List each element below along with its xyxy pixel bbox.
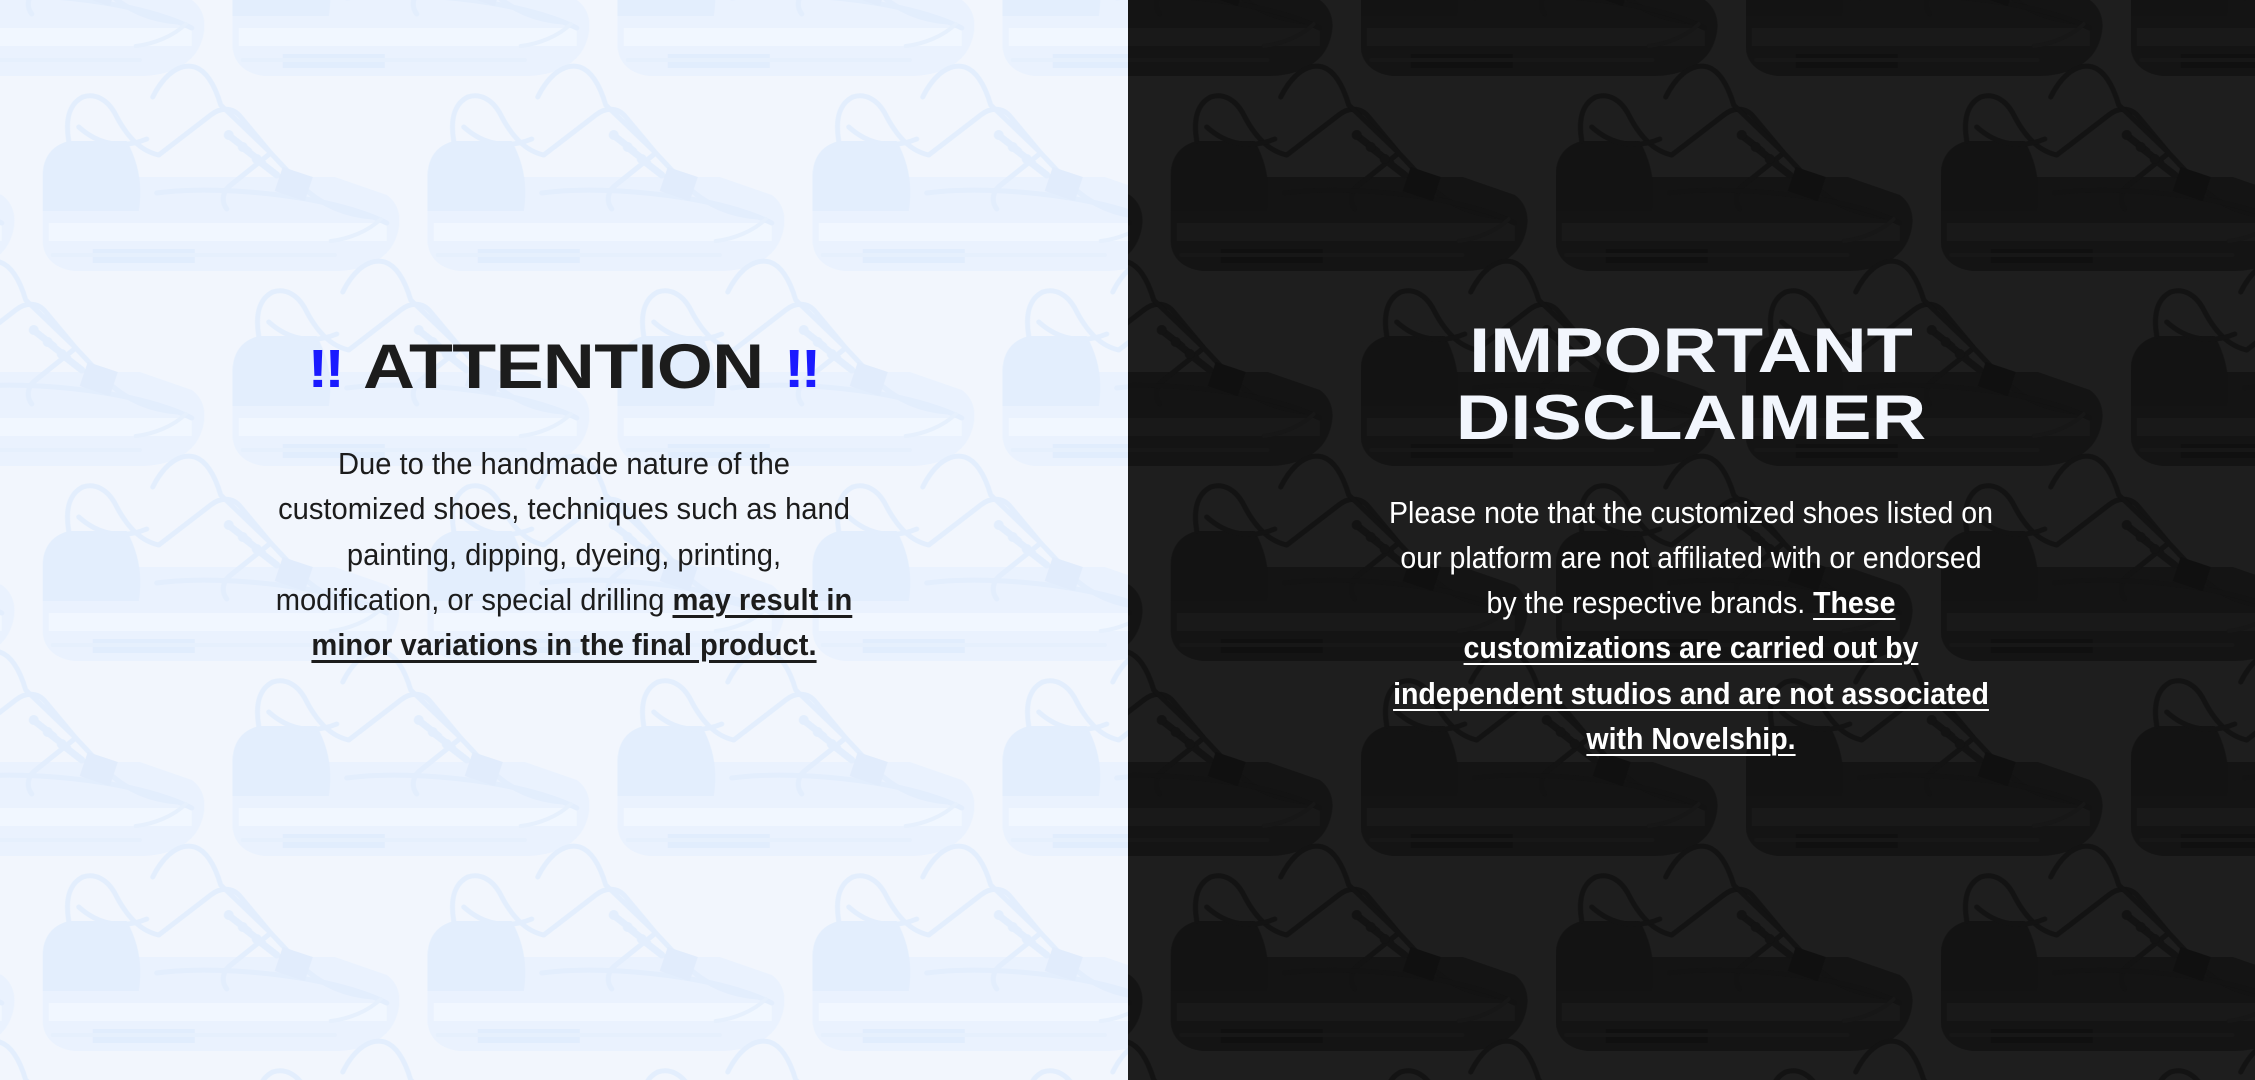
customization-disclaimer-banner: ‼ATTENTION‼ Due to the handmade nature o… (0, 0, 2255, 1080)
attention-heading: ‼ATTENTION‼ (308, 336, 819, 399)
disclaimer-heading-line2: DISCLAIMER (1456, 385, 1926, 452)
disclaimer-panel: IMPORTANT DISCLAIMER Please note that th… (1128, 0, 2255, 1080)
disclaimer-body: Please note that the customized shoes li… (1388, 490, 1995, 762)
attention-heading-text: ATTENTION (364, 332, 764, 402)
disclaimer-heading-line1: IMPORTANT (1456, 318, 1926, 385)
double-exclamation-icon-left: ‼ (308, 339, 343, 399)
disclaimer-heading: IMPORTANT DISCLAIMER (1456, 318, 1926, 452)
attention-panel: ‼ATTENTION‼ Due to the handmade nature o… (0, 0, 1128, 1080)
double-exclamation-icon-right: ‼ (785, 339, 820, 399)
disclaimer-content: IMPORTANT DISCLAIMER Please note that th… (1128, 0, 2255, 1080)
attention-body: Due to the handmade nature of the custom… (272, 441, 855, 667)
disclaimer-body-lead: Please note that the customized shoes li… (1389, 495, 1993, 621)
attention-content: ‼ATTENTION‼ Due to the handmade nature o… (0, 0, 1128, 1080)
